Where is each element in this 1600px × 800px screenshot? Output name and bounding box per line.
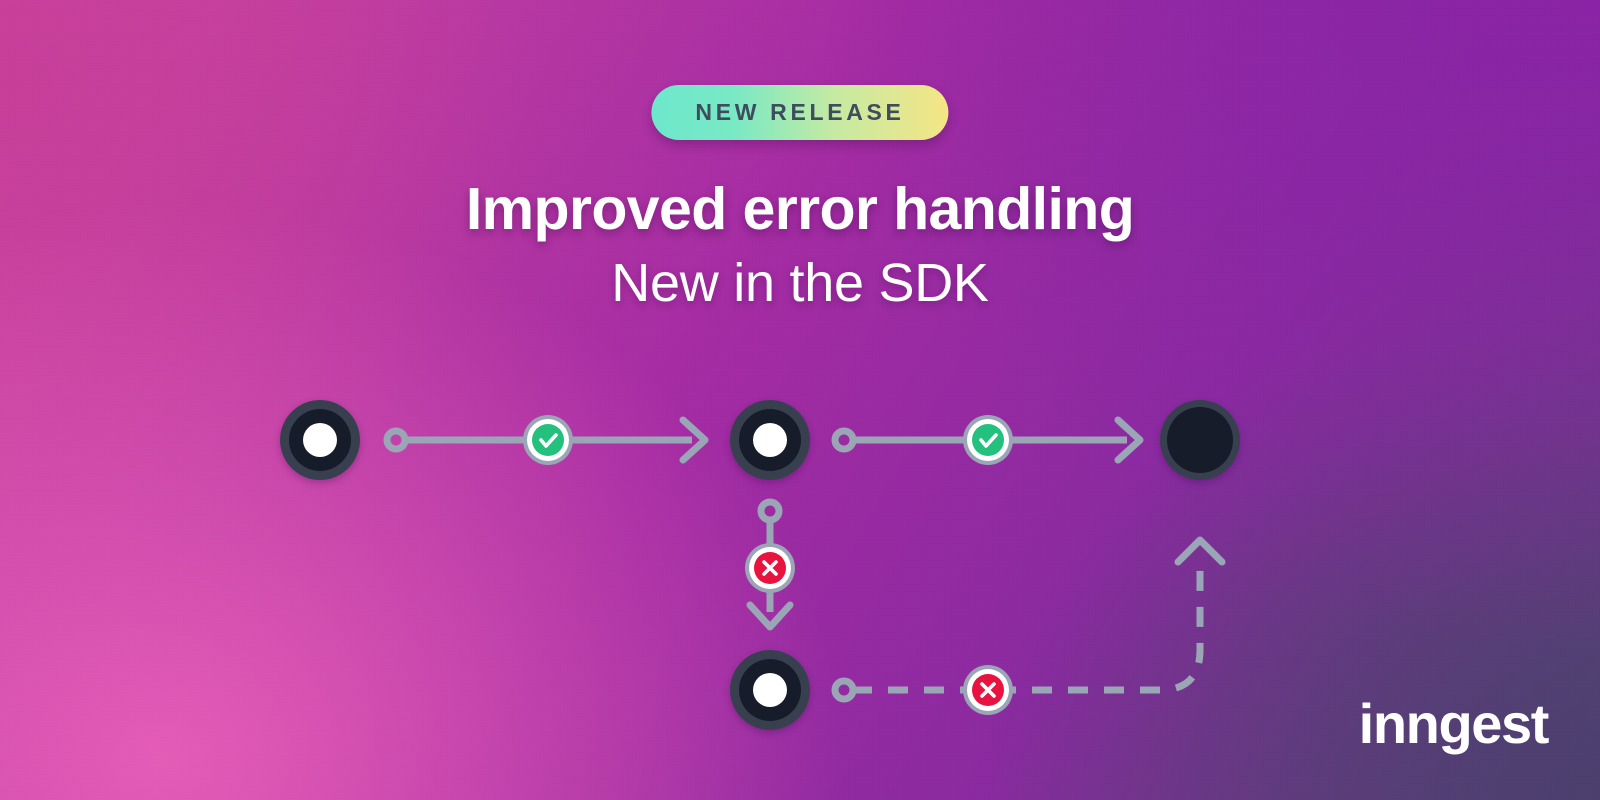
step-node-start[interactable] xyxy=(280,400,360,480)
edge-dashed-retry-to-step3 xyxy=(852,540,1222,690)
connector-dot xyxy=(835,681,853,699)
page-subtitle: New in the SDK xyxy=(0,252,1600,314)
connector-dot xyxy=(387,431,405,449)
error-badge[interactable] xyxy=(745,543,795,593)
new-release-badge: NEW RELEASE xyxy=(651,85,948,140)
step-node-middle[interactable] xyxy=(730,400,810,480)
step-node-end[interactable] xyxy=(1160,400,1240,480)
arrowhead-up-icon xyxy=(1178,540,1222,562)
inngest-logo: inngest xyxy=(1359,696,1548,752)
step-node-retry[interactable] xyxy=(730,650,810,730)
connector-dot xyxy=(761,502,779,520)
success-badge[interactable] xyxy=(523,415,573,465)
page-title: Improved error handling xyxy=(0,175,1600,243)
success-badge[interactable] xyxy=(963,415,1013,465)
release-announcement-banner: NEW RELEASE Improved error handling New … xyxy=(0,0,1600,800)
connector-dot xyxy=(835,431,853,449)
error-badge[interactable] xyxy=(963,665,1013,715)
